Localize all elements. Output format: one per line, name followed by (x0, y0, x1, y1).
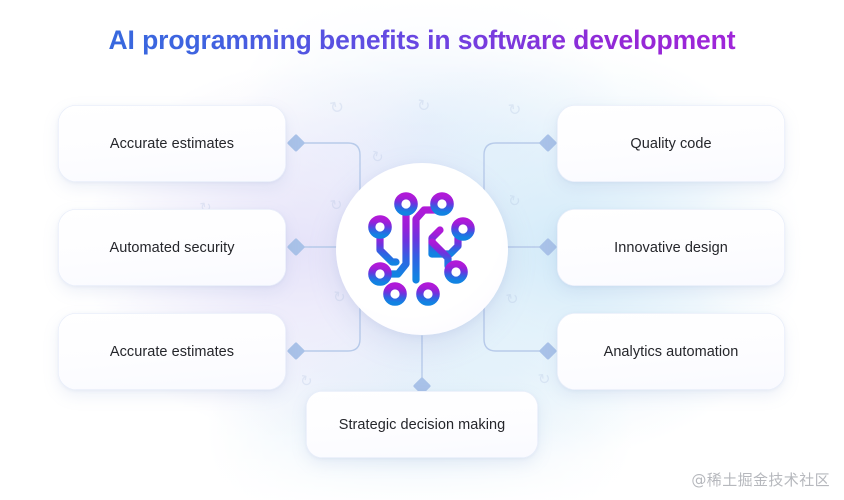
center-hub-circle (336, 163, 508, 335)
infographic-canvas: ↻↻↻↻↻↻↻↻↻↻↻↻ AI programming benefits in … (0, 0, 844, 500)
benefit-card-label: Quality code (630, 136, 711, 152)
benefit-card-left-2[interactable]: Automated security (58, 209, 286, 286)
benefit-card-right-2[interactable]: Innovative design (557, 209, 785, 286)
benefit-card-right-1[interactable]: Quality code (557, 105, 785, 182)
benefit-card-label: Automated security (109, 240, 234, 256)
ai-circuit-icon (366, 188, 478, 310)
benefit-card-label: Analytics automation (604, 344, 739, 360)
watermark-text: @稀土掘金技术社区 (691, 469, 830, 490)
benefit-card-right-3[interactable]: Analytics automation (557, 313, 785, 390)
benefit-card-label: Innovative design (614, 240, 728, 256)
benefit-card-label: Accurate estimates (110, 136, 234, 152)
benefit-card-left-1[interactable]: Accurate estimates (58, 105, 286, 182)
benefit-card-label: Strategic decision making (339, 417, 505, 433)
benefit-card-label: Accurate estimates (110, 344, 234, 360)
benefit-card-bottom[interactable]: Strategic decision making (306, 391, 538, 458)
benefit-card-left-3[interactable]: Accurate estimates (58, 313, 286, 390)
